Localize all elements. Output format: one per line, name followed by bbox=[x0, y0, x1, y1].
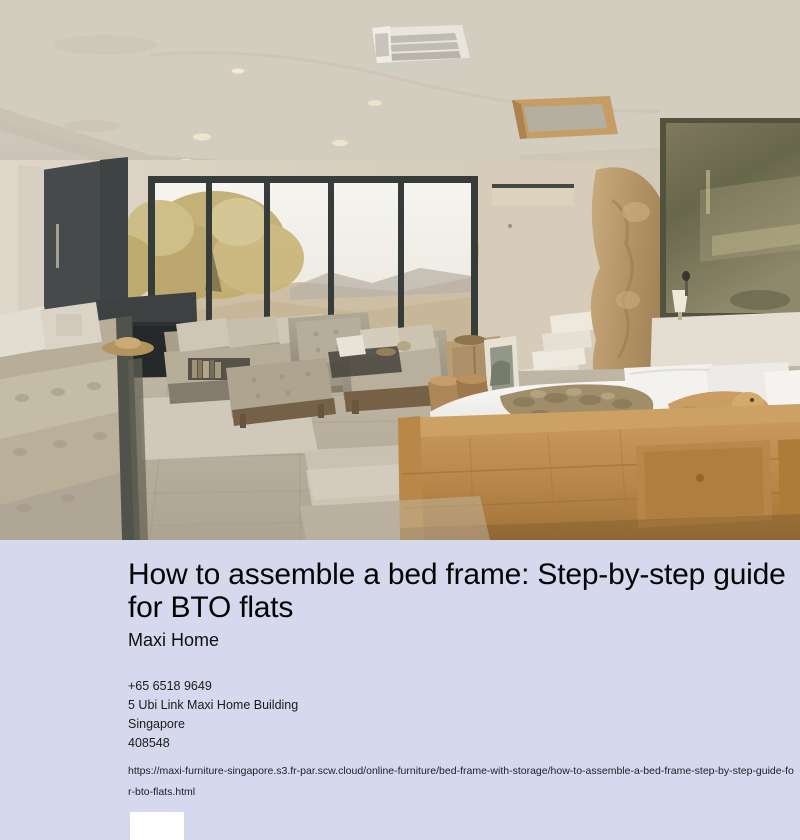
contact-block: +65 6518 9649 5 Ubi Link Maxi Home Build… bbox=[128, 677, 298, 753]
info-panel: How to assemble a bed frame: Step-by-ste… bbox=[0, 540, 800, 840]
brand-name: Maxi Home bbox=[128, 629, 219, 651]
page-title: How to assemble a bed frame: Step-by-ste… bbox=[128, 558, 788, 624]
hero-illustration bbox=[0, 0, 800, 540]
postal-code: 408548 bbox=[128, 734, 298, 753]
street-address: 5 Ubi Link Maxi Home Building bbox=[128, 696, 298, 715]
page-root: How to assemble a bed frame: Step-by-ste… bbox=[0, 0, 800, 840]
phone-number: +65 6518 9649 bbox=[128, 677, 298, 696]
hero-image bbox=[0, 0, 800, 540]
country: Singapore bbox=[128, 715, 298, 734]
page-url[interactable]: https://maxi-furniture-singapore.s3.fr-p… bbox=[128, 761, 796, 803]
furniture-badge: Furniture bbox=[130, 812, 184, 840]
